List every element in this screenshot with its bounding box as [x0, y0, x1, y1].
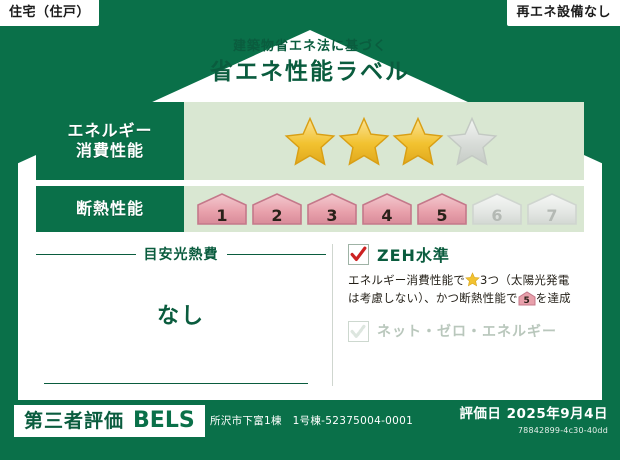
star-rating — [270, 116, 498, 166]
bels-logo: BELS — [133, 410, 195, 432]
heading-rule-left — [36, 254, 136, 255]
header-title: 省エネ性能ラベル — [0, 61, 620, 84]
energy-performance-label: 住宅（住戸） 再エネ設備なし 建築物省エネ法に基づく 省エネ性能ラベル エネルギ… — [0, 0, 620, 460]
third-party-evaluation-label: 第三者評価 — [24, 412, 124, 431]
energy-rating-value — [184, 102, 584, 180]
check-icon-disabled — [350, 323, 367, 340]
energy-label-line2: 消費性能 — [76, 141, 144, 161]
insulation-performance-row: 断熱性能 1234567 — [36, 186, 584, 232]
star-filled-icon — [338, 116, 390, 166]
insulation-level-number: 3 — [306, 208, 358, 224]
insulation-house-filled: 5 — [416, 192, 468, 226]
utility-cost-value: なし — [36, 298, 326, 330]
zeh-title: ZEH水準 — [377, 242, 450, 266]
zeh-desc-part4: を達成 — [536, 291, 571, 305]
zeh-desc-part1: エネルギー消費性能で — [348, 273, 465, 287]
building-type-tag: 住宅（住戸） — [0, 0, 99, 26]
evaluation-id: 78842899-4c30-40dd — [459, 427, 608, 435]
insulation-level-number: 7 — [526, 208, 578, 224]
zeh-description: エネルギー消費性能で 3つ（太陽光発電 は考慮しない）、かつ断熱性能で 5 を達… — [348, 272, 584, 308]
net-zero-energy-checkbox — [348, 321, 369, 342]
utility-cost-bottom-rule — [44, 383, 308, 384]
heading-rule-right — [227, 254, 327, 255]
label-footer: 第三者評価 BELS 所沢市下富1棟 1号棟-52375004-0001 評価日… — [0, 400, 620, 460]
insulation-house-filled: 3 — [306, 192, 358, 226]
lower-section: 目安光熱費 なし ZEH水準 エネルギー消費性能で — [36, 242, 584, 390]
insulation-house-filled: 2 — [251, 192, 303, 226]
star-filled-icon — [284, 116, 336, 166]
utility-cost-title: 目安光熱費 — [144, 244, 219, 264]
renewable-equipment-tag: 再エネ設備なし — [507, 0, 620, 26]
energy-label-line1: エネルギー — [67, 121, 152, 141]
check-icon — [350, 246, 367, 263]
insulation-level-scale: 1234567 — [190, 192, 578, 226]
insulation-level-number: 4 — [361, 208, 413, 224]
insulation-house-filled: 4 — [361, 192, 413, 226]
utility-cost-heading: 目安光熱費 — [36, 244, 326, 264]
insulation-label: 断熱性能 — [76, 199, 144, 219]
insulation-level-number: 6 — [471, 208, 523, 224]
net-zero-energy-title: ネット・ゼロ・エネルギー — [377, 321, 557, 341]
zeh-desc-part2: 3つ（太陽光発電 — [480, 273, 569, 287]
insulation-level-number: 1 — [196, 208, 248, 224]
energy-performance-label-cell: エネルギー 消費性能 — [36, 102, 184, 180]
inline-house-number: 5 — [518, 297, 536, 306]
performance-panel: エネルギー 消費性能 断熱性能 1234567 目安光熱費 — [36, 102, 584, 387]
evaluation-info: 評価日 2025年9月4日 78842899-4c30-40dd — [459, 408, 608, 435]
star-empty-icon — [446, 116, 498, 166]
zeh-heading: ZEH水準 — [348, 242, 584, 266]
insulation-performance-label-cell: 断熱性能 — [36, 186, 184, 232]
star-filled-icon — [392, 116, 444, 166]
insulation-level-number: 5 — [416, 208, 468, 224]
insulation-level-number: 2 — [251, 208, 303, 224]
zeh-desc-part3: は考慮しない）、かつ断熱性能で — [348, 291, 518, 305]
property-address: 所沢市下富1棟 1号棟-52375004-0001 — [210, 413, 413, 428]
inline-house-badge: 5 — [518, 291, 536, 306]
utility-cost-block: 目安光熱費 なし — [36, 242, 326, 390]
insulation-house-filled: 1 — [196, 192, 248, 226]
header-subtitle: 建築物省エネ法に基づく — [0, 40, 620, 53]
label-header: 建築物省エネ法に基づく 省エネ性能ラベル — [0, 40, 620, 84]
inline-star-icon — [465, 272, 480, 287]
bels-plate: 第三者評価 BELS — [14, 405, 205, 437]
zeh-checkbox — [348, 244, 369, 265]
net-zero-energy-row: ネット・ゼロ・エネルギー — [348, 321, 584, 342]
insulation-rating-value: 1234567 — [184, 186, 584, 232]
insulation-house-empty: 7 — [526, 192, 578, 226]
insulation-house-empty: 6 — [471, 192, 523, 226]
energy-performance-row: エネルギー 消費性能 — [36, 102, 584, 180]
zeh-block: ZEH水準 エネルギー消費性能で 3つ（太陽光発電 は考慮しない）、かつ断熱性能… — [326, 242, 584, 390]
evaluation-date: 評価日 2025年9月4日 — [459, 408, 608, 422]
